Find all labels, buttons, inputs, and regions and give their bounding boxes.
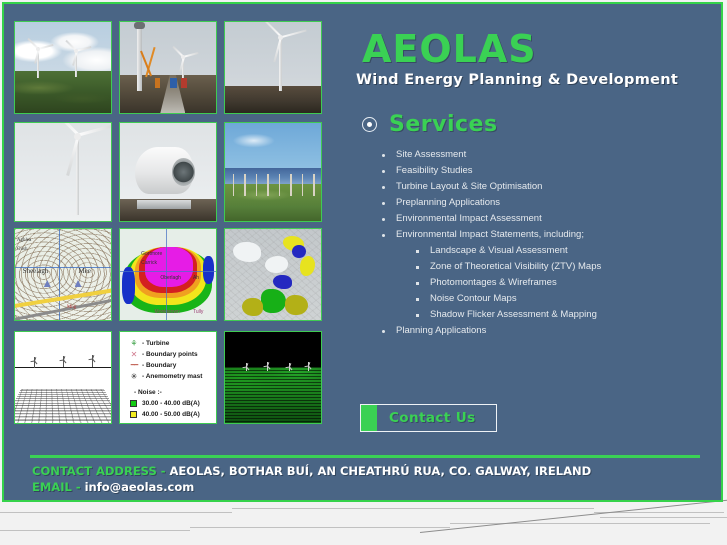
- image-gallery: Aghlea Gush Sheelagh Mee Mng: [14, 21, 324, 441]
- footer-email-line: EMAIL - info@aeolas.com: [32, 479, 712, 495]
- service-sublist: Landscape & Visual Assessment Zone of Th…: [396, 243, 718, 323]
- service-subitem: Zone of Theoretical Visibility (ZTV) Map…: [396, 259, 718, 275]
- turbine-icon: [30, 357, 38, 368]
- paper-line: [0, 512, 232, 513]
- service-sublabel: Zone of Theoretical Visibility (ZTV) Map…: [430, 261, 601, 272]
- turbine-icon: [285, 363, 293, 371]
- service-item: Site Assessment: [348, 147, 718, 163]
- service-sublabel: Photomontages & Wireframes: [430, 277, 557, 288]
- legend-label: - Anemometry mast: [142, 373, 202, 380]
- service-item: Preplanning Applications: [348, 195, 718, 211]
- paper-line: [190, 527, 450, 528]
- ztv-map: [224, 228, 322, 321]
- map-legend-panel: ⚘ - Turbine ✕ - Boundary points ━━ - Bou…: [119, 331, 217, 424]
- map-label: Gortmore: [141, 251, 162, 257]
- legend-label: 30.00 - 40.00 dB(A): [142, 400, 200, 407]
- legend-label: 40.00 - 50.00 dB(A): [142, 411, 200, 418]
- footer-address-line: CONTACT ADDRESS - AEOLAS, BOTHAR BUÍ, AN…: [32, 463, 712, 479]
- turbine-rotor-closeup-photo: [14, 122, 112, 222]
- wireframe-view: [14, 331, 112, 424]
- page-subtitle: Wind Energy Planning & Development: [356, 72, 718, 88]
- paper-line: [600, 517, 727, 518]
- turbine-icon: [32, 47, 44, 78]
- legend-noise-band: 30.00 - 40.00 dB(A): [126, 398, 212, 409]
- service-item: Feasibility Studies: [348, 163, 718, 179]
- footer-address-separator: -: [157, 464, 170, 478]
- map-label: Tully: [193, 309, 203, 315]
- service-label: Preplanning Applications: [396, 197, 500, 208]
- wind-farm-landscape-photo: [14, 21, 112, 114]
- nacelle-on-ground-photo: [119, 122, 217, 222]
- map-label: Mee: [78, 267, 90, 275]
- footer-email-value[interactable]: info@aeolas.com: [85, 480, 195, 494]
- footer-address-key: CONTACT ADDRESS: [32, 464, 157, 478]
- service-label: Site Assessment: [396, 149, 466, 160]
- footer-email-key: EMAIL: [32, 480, 72, 494]
- service-item: Planning Applications: [348, 323, 718, 339]
- turbine-icon: [57, 133, 97, 215]
- page-title: AEOLAS: [362, 30, 718, 68]
- service-subitem: Photomontages & Wireframes: [396, 275, 718, 291]
- fence-posts: [225, 174, 321, 196]
- legend-item: ━━ - Boundary: [126, 360, 212, 371]
- rotor-hub-opening: [172, 158, 195, 185]
- service-label: Environmental Impact Assessment: [396, 213, 542, 224]
- service-sublabel: Landscape & Visual Assessment: [430, 245, 568, 256]
- noise-swatch-green: [130, 400, 137, 407]
- radio-dot-icon: [362, 117, 377, 132]
- presentation-slide: Aghlea Gush Sheelagh Mee Mng: [2, 2, 723, 502]
- contact-us-button[interactable]: Contact Us: [360, 404, 497, 432]
- legend-noise-title: - Noise :-: [134, 389, 212, 396]
- legend-noise-band: 40.00 - 50.00 dB(A): [126, 409, 212, 420]
- contact-button-accent-bar: [361, 405, 377, 431]
- contact-button-label: Contact Us: [389, 410, 476, 426]
- noise-band-blue: [122, 267, 135, 303]
- night-ztv-render: [224, 331, 322, 424]
- footer-address-value: AEOLAS, BOTHAR BUÍ, AN CHEATHRÚ RUA, CO.…: [170, 464, 592, 478]
- turbine-icon: [88, 355, 96, 368]
- screenshot-page: Aghlea Gush Sheelagh Mee Mng: [0, 0, 727, 545]
- service-subitem: Landscape & Visual Assessment: [396, 243, 718, 259]
- services-heading-label: Services: [389, 112, 498, 137]
- paper-line: [0, 530, 190, 531]
- turbine-icon: [269, 35, 291, 91]
- service-label: Environmental Impact Statements, includi…: [396, 229, 584, 240]
- noise-contour-map: Gortmore Carrick Oberlagh Ah Monkstown T…: [119, 228, 217, 321]
- legend-label: - Boundary: [142, 362, 176, 369]
- nacelle-cradle: [137, 200, 191, 209]
- service-label: Turbine Layout & Site Optimisation: [396, 181, 542, 192]
- turbine-icon: [263, 362, 271, 371]
- turbine-map-symbol: [44, 280, 51, 287]
- site-vehicles: [120, 78, 216, 87]
- map-label: Mng: [67, 305, 76, 310]
- footer-contact: CONTACT ADDRESS - AEOLAS, BOTHAR BUÍ, AN…: [32, 463, 712, 495]
- turbine-icon: [59, 356, 67, 368]
- footer-email-separator: -: [72, 480, 85, 494]
- turbine-icon: [178, 55, 188, 79]
- legend-label: - Boundary points: [142, 351, 198, 358]
- turbine-icon: [71, 49, 82, 76]
- legend-item: ✕ - Boundary points: [126, 349, 212, 360]
- footer-divider: [30, 455, 700, 458]
- boundary-line-symbol-icon: ━━: [126, 362, 142, 369]
- content-column: AEOLAS Wind Energy Planning & Developmen…: [348, 20, 718, 339]
- turbine-map-symbol: [75, 280, 82, 287]
- service-label: Feasibility Studies: [396, 165, 473, 176]
- service-item: Environmental Impact Statements, includi…: [348, 227, 718, 323]
- legend-item: ⚘ - Turbine: [126, 338, 212, 349]
- boundary-point-symbol-icon: ✕: [126, 351, 142, 359]
- legend-label: - Turbine: [142, 340, 169, 347]
- service-subitem: Noise Contour Maps: [396, 291, 718, 307]
- map-label: Aghlea: [17, 238, 31, 243]
- map-label: Gush: [17, 247, 28, 252]
- map-label: Carrick: [141, 260, 157, 266]
- legend-item: ✳ - Anemometry mast: [126, 371, 212, 382]
- service-sublabel: Noise Contour Maps: [430, 293, 517, 304]
- coastal-site-photo: [224, 122, 322, 222]
- noise-swatch-yellow: [130, 411, 137, 418]
- paper-line: [232, 508, 594, 509]
- services-heading: Services: [362, 112, 718, 137]
- turbine-icon: [242, 363, 250, 371]
- os-contour-map: Aghlea Gush Sheelagh Mee Mng: [14, 228, 112, 321]
- turbine-icon: [304, 362, 312, 371]
- single-turbine-peat-photo: [224, 21, 322, 114]
- service-label: Planning Applications: [396, 325, 486, 336]
- service-item: Turbine Layout & Site Optimisation: [348, 179, 718, 195]
- anemometry-mast-symbol-icon: ✳: [126, 373, 142, 381]
- map-label: Sheelagh: [23, 267, 49, 275]
- services-list: Site Assessment Feasibility Studies Turb…: [348, 147, 718, 339]
- map-label: Ah: [193, 275, 199, 281]
- service-subitem: Shadow Flicker Assessment & Mapping: [396, 307, 718, 323]
- turbine-symbol-icon: ⚘: [126, 340, 142, 348]
- map-label: Monkstown: [155, 309, 180, 315]
- construction-access-track-photo: [119, 21, 217, 114]
- service-sublabel: Shadow Flicker Assessment & Mapping: [430, 309, 597, 320]
- map-label: Oberlagh: [160, 275, 181, 281]
- service-item: Environmental Impact Assessment: [348, 211, 718, 227]
